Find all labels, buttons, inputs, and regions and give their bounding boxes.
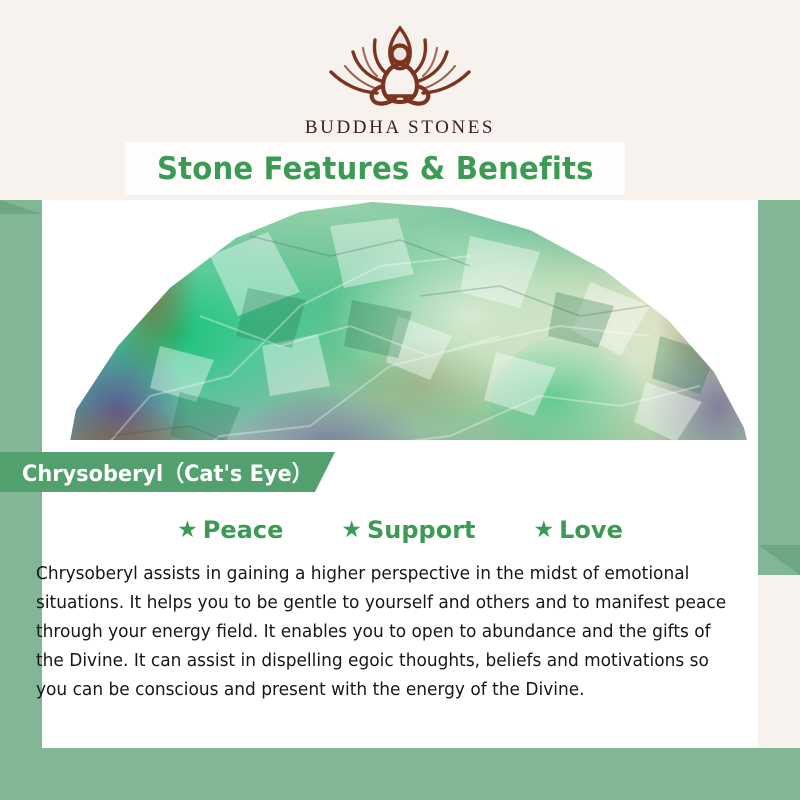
stone-name: Chrysoberyl（Cat's Eye）	[22, 456, 313, 488]
page-title: Stone Features & Benefits	[157, 151, 594, 187]
lotus-meditation-icon	[315, 18, 485, 113]
stone-name-ribbon: Chrysoberyl（Cat's Eye）	[0, 452, 335, 492]
stone-info-poster: BUDDHA STONES Stone Features & Benefits …	[0, 0, 800, 800]
stone-description: Chrysoberyl assists in gaining a higher …	[36, 560, 739, 705]
benefit-support: ★ Support	[341, 516, 475, 544]
benefit-peace: ★ Peace	[177, 516, 283, 544]
benefits-row: ★ Peace ★ Support ★ Love	[42, 516, 758, 544]
star-icon: ★	[534, 519, 555, 542]
brand-name: BUDDHA STONES	[0, 117, 800, 139]
frame-band-right	[758, 145, 800, 575]
benefit-label: Love	[559, 516, 623, 544]
title-banner: Stone Features & Benefits	[125, 142, 625, 195]
frame-band-bottom	[0, 748, 800, 800]
star-icon: ★	[341, 519, 362, 542]
benefit-label: Support	[367, 516, 476, 544]
benefit-love: ★ Love	[534, 516, 623, 544]
benefit-label: Peace	[203, 516, 284, 544]
star-icon: ★	[177, 519, 198, 542]
brand-logo: BUDDHA STONES	[0, 18, 800, 139]
